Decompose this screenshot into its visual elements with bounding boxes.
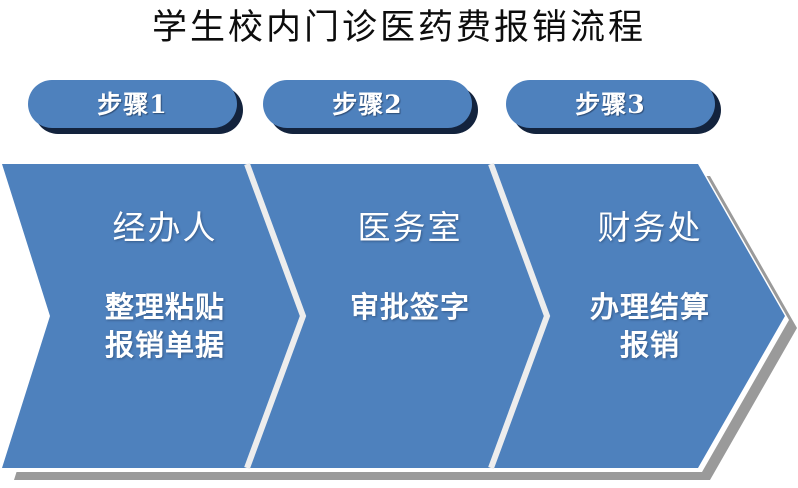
step-1-body-line-1: 整理粘贴 [70,288,260,326]
process-chevron-band: 经办人 整理粘贴 报销单据 医务室 审批签字 财务处 办理结算 报销 [0,150,798,488]
step-pill-2-body[interactable]: 步骤2 [263,80,472,128]
step-pill-3-label: 步骤3 [575,92,645,117]
step-pill-3[interactable]: 步骤3 [506,80,715,130]
step-pill-2-label: 步骤2 [332,92,402,117]
step-2-body-line-1: 审批签字 [315,288,505,326]
step-pill-2[interactable]: 步骤2 [263,80,472,130]
step-pill-row: 步骤1 步骤2 步骤3 [0,80,798,136]
step-3-heading: 财务处 [555,208,745,248]
step-2-heading: 医务室 [315,208,505,248]
page-title: 学生校内门诊医药费报销流程 [0,4,798,52]
step-2-body: 审批签字 [315,288,505,326]
step-pill-3-body[interactable]: 步骤3 [506,80,715,128]
step-1-body: 整理粘贴 报销单据 [70,288,260,364]
step-pill-1-label: 步骤1 [97,92,167,117]
step-1-heading: 经办人 [70,208,260,248]
step-pill-1[interactable]: 步骤1 [28,80,237,130]
step-1-body-line-2: 报销单据 [70,326,260,364]
step-pill-1-body[interactable]: 步骤1 [28,80,237,128]
step-3-body: 办理结算 报销 [555,288,745,364]
step-3-body-line-2: 报销 [555,326,745,364]
step-3-body-line-1: 办理结算 [555,288,745,326]
